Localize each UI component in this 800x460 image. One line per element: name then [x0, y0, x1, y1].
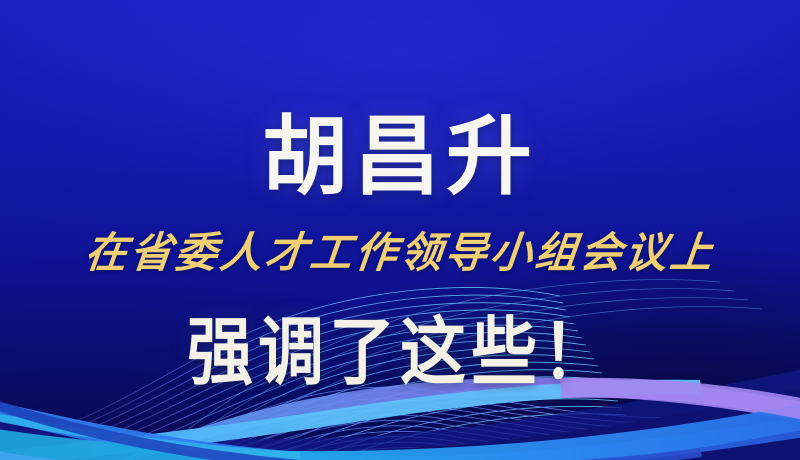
poster-banner: 胡昌升 在省委人才工作领导小组会议上 强调了这些！ — [0, 0, 800, 460]
headline-text-layer: 胡昌升 在省委人才工作领导小组会议上 强调了这些！ — [0, 0, 800, 460]
page-title: 胡昌升 — [0, 114, 800, 200]
tagline: 强调了这些！ — [0, 315, 800, 389]
subtitle: 在省委人才工作领导小组会议上 — [0, 233, 800, 275]
